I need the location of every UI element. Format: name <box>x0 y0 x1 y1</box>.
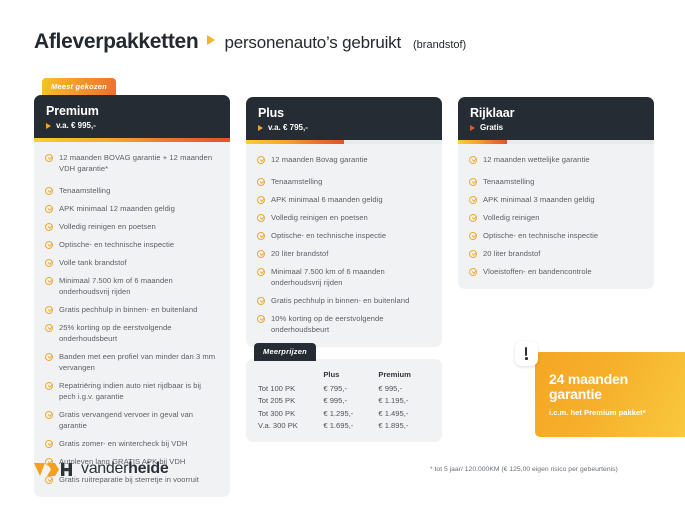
row-label: Tot 205 PK <box>258 395 323 407</box>
list-item: Optische- en technische inspectie <box>469 230 643 241</box>
check-circle-icon <box>257 315 265 323</box>
package-card-premium[interactable]: Meest gekozen Premium v.a. € 995,- 12 ma… <box>34 78 230 497</box>
list-item: Gratis pechhulp in binnen- en buitenland <box>257 295 431 306</box>
check-circle-icon <box>257 232 265 240</box>
card-header-plus: Plus v.a. € 795,- <box>246 97 442 140</box>
list-item: Minimaal 7.500 km of 6 maanden onderhoud… <box>257 266 431 288</box>
column-header-premium: Premium <box>378 368 430 383</box>
table-row: V.a. 300 PK € 1.695,- € 1.895,- <box>258 419 430 431</box>
feature-text: 12 maanden Bovag garantie <box>271 154 368 165</box>
guarantee-title-line1: 24 maanden <box>549 372 673 387</box>
check-circle-icon <box>257 214 265 222</box>
row-label: V.a. 300 PK <box>258 419 323 431</box>
list-item: Volle tank brandstof <box>45 257 219 268</box>
list-item: Gratis vervangend vervoer in geval van g… <box>45 409 219 431</box>
check-circle-icon <box>45 223 53 231</box>
cell-plus: € 795,- <box>323 383 378 395</box>
list-item: Volledig reinigen <box>469 212 643 223</box>
feature-text: Minimaal 7.500 km of 6 maanden onderhoud… <box>271 266 431 288</box>
card-level-bar <box>458 140 654 144</box>
feature-text: APK minimaal 3 maanden geldig <box>483 194 595 205</box>
cell-premium: € 1.195,- <box>378 395 430 407</box>
feature-text: Optische- en technische inspectie <box>271 230 386 241</box>
check-circle-icon <box>45 411 53 419</box>
list-item: APK minimaal 3 maanden geldig <box>469 194 643 205</box>
triangle-right-icon <box>46 123 51 129</box>
card-price: Gratis <box>480 123 503 132</box>
cell-premium: € 1.895,- <box>378 419 430 431</box>
footnote: * tot 5 jaar/ 120.000KM (€ 125,00 eigen … <box>430 466 618 473</box>
feature-text: Gratis pechhulp in binnen- en buitenland <box>271 295 409 306</box>
feature-text: Banden met een profiel van minder dan 3 … <box>59 351 219 373</box>
page-header: Afleverpakketten personenauto’s gebruikt… <box>34 30 466 54</box>
list-item: Volledig reinigen en poetsen <box>257 212 431 223</box>
feature-text: Volle tank brandstof <box>59 257 127 268</box>
list-item: Optische- en technische inspectie <box>45 239 219 250</box>
list-item: 12 maanden Bovag garantie <box>257 154 431 165</box>
surcharge-table-block: Meerprijzen Plus Premium Tot 100 PK € 79… <box>246 343 442 442</box>
check-circle-icon <box>45 324 53 332</box>
most-chosen-badge: Meest gekozen <box>42 78 116 96</box>
brand-name-light: vander <box>81 460 128 477</box>
package-card-rijklaar[interactable]: Rijklaar Gratis 12 maanden wettelijke ga… <box>458 97 654 289</box>
package-card-plus[interactable]: Plus v.a. € 795,- 12 maanden Bovag garan… <box>246 97 442 347</box>
card-price-row: v.a. € 795,- <box>258 123 430 132</box>
list-item: Gratis pechhulp in binnen- en buitenland <box>45 304 219 315</box>
list-item: APK minimaal 12 maanden geldig <box>45 203 219 214</box>
check-circle-icon <box>45 187 53 195</box>
row-label: Tot 100 PK <box>258 383 323 395</box>
card-header-rijklaar: Rijklaar Gratis <box>458 97 654 140</box>
card-title: Premium <box>46 104 218 118</box>
check-circle-icon <box>257 178 265 186</box>
list-item: 12 maanden wettelijke garantie <box>469 154 643 165</box>
triangle-right-icon <box>258 125 263 131</box>
check-circle-icon <box>469 232 477 240</box>
feature-text: Repatriëring indien auto niet rijdbaar i… <box>59 380 219 402</box>
poster-page: Afleverpakketten personenauto’s gebruikt… <box>0 0 685 514</box>
column-header-plus: Plus <box>323 368 378 383</box>
feature-text: 25% korting op de eerstvolgende onderhou… <box>59 322 219 344</box>
feature-text: Gratis zomer- en wintercheck bij VDH <box>59 438 187 449</box>
feature-text: 20 liter brandstof <box>271 248 328 259</box>
card-title: Rijklaar <box>470 106 642 120</box>
feature-text: Tenaamstelling <box>59 185 110 196</box>
feature-text: 10% korting op de eerstvolgende onderhou… <box>271 313 431 335</box>
check-circle-icon <box>257 268 265 276</box>
check-circle-icon <box>469 268 477 276</box>
list-item: Repatriëring indien auto niet rijdbaar i… <box>45 380 219 402</box>
cell-plus: € 1.295,- <box>323 407 378 419</box>
cell-premium: € 1.495,- <box>378 407 430 419</box>
surcharge-tab-label: Meerprijzen <box>254 343 316 361</box>
check-circle-icon <box>469 156 477 164</box>
list-item: 20 liter brandstof <box>257 248 431 259</box>
vdh-logo-icon <box>34 461 72 478</box>
check-circle-icon <box>45 277 53 285</box>
check-circle-icon <box>45 154 53 162</box>
list-item: Minimaal 7.500 km of 6 maanden onderhoud… <box>45 275 219 297</box>
feature-text: Volledig reinigen en poetsen <box>59 221 156 232</box>
card-feature-list: 12 maanden BOVAG garantie + 12 maanden V… <box>34 142 230 497</box>
surcharge-table-body: Plus Premium Tot 100 PK € 795,- € 995,- … <box>246 359 442 442</box>
check-circle-icon <box>45 440 53 448</box>
list-item: Volledig reinigen en poetsen <box>45 221 219 232</box>
card-price-row: v.a. € 995,- <box>46 121 218 130</box>
feature-text: Tenaamstelling <box>271 176 322 187</box>
card-feature-list: 12 maanden Bovag garantie Tenaamstelling… <box>246 144 442 347</box>
table-row: Tot 300 PK € 1.295,- € 1.495,- <box>258 407 430 419</box>
list-item: Tenaamstelling <box>469 176 643 187</box>
card-price: v.a. € 995,- <box>56 121 96 130</box>
guarantee-panel: 24 maanden garantie i.c.m. het Premium p… <box>535 352 685 437</box>
check-circle-icon <box>45 353 53 361</box>
check-circle-icon <box>469 250 477 258</box>
check-circle-icon <box>45 382 53 390</box>
check-circle-icon <box>257 196 265 204</box>
check-circle-icon <box>257 156 265 164</box>
feature-text: Optische- en technische inspectie <box>483 230 598 241</box>
list-item: Optische- en technische inspectie <box>257 230 431 241</box>
table-header-row: Plus Premium <box>258 368 430 383</box>
list-item: 10% korting op de eerstvolgende onderhou… <box>257 313 431 335</box>
check-circle-icon <box>45 306 53 314</box>
triangle-right-icon <box>470 125 475 131</box>
row-label: Tot 300 PK <box>258 407 323 419</box>
guarantee-subtitle: i.c.m. het Premium pakket* <box>549 408 673 417</box>
card-level-bar <box>246 140 442 144</box>
triangle-right-icon <box>207 35 215 45</box>
feature-text: 12 maanden BOVAG garantie + 12 maanden V… <box>59 152 219 174</box>
feature-text: 20 liter brandstof <box>483 248 540 259</box>
list-item: Banden met een profiel van minder dan 3 … <box>45 351 219 373</box>
list-item: Tenaamstelling <box>45 185 219 196</box>
feature-text: Gratis vervangend vervoer in geval van g… <box>59 409 219 431</box>
list-item: 20 liter brandstof <box>469 248 643 259</box>
exclamation-icon <box>515 341 538 366</box>
feature-text: 12 maanden wettelijke garantie <box>483 154 590 165</box>
cell-plus: € 995,- <box>323 395 378 407</box>
check-circle-icon <box>257 297 265 305</box>
card-title: Plus <box>258 106 430 120</box>
check-circle-icon <box>469 196 477 204</box>
card-price-row: Gratis <box>470 123 642 132</box>
list-item: Vloeistoffen- en bandencontrole <box>469 266 643 277</box>
guarantee-title-line2: garantie <box>549 387 673 402</box>
feature-text: Tenaamstelling <box>483 176 534 187</box>
check-circle-icon <box>257 250 265 258</box>
brand-name-bold: heide <box>128 460 168 477</box>
card-header-premium: Premium v.a. € 995,- <box>34 95 230 138</box>
check-circle-icon <box>45 259 53 267</box>
check-circle-icon <box>45 241 53 249</box>
page-subtitle-note: (brandstof) <box>413 39 466 51</box>
column-header-power <box>258 368 323 383</box>
brand-logo: vanderheide <box>34 460 168 478</box>
feature-text: Gratis pechhulp in binnen- en buitenland <box>59 304 197 315</box>
page-subtitle: personenauto’s gebruikt <box>224 33 401 53</box>
brand-name: vanderheide <box>81 460 168 478</box>
cell-premium: € 995,- <box>378 383 430 395</box>
check-circle-icon <box>45 205 53 213</box>
feature-text: APK minimaal 6 maanden geldig <box>271 194 383 205</box>
feature-text: Vloeistoffen- en bandencontrole <box>483 266 592 277</box>
list-item: 25% korting op de eerstvolgende onderhou… <box>45 322 219 344</box>
feature-text: Optische- en technische inspectie <box>59 239 174 250</box>
table-row: Tot 100 PK € 795,- € 995,- <box>258 383 430 395</box>
feature-text: Volledig reinigen en poetsen <box>271 212 368 223</box>
check-circle-icon <box>469 214 477 222</box>
card-level-bar <box>34 138 230 142</box>
surcharge-table: Plus Premium Tot 100 PK € 795,- € 995,- … <box>258 368 430 431</box>
feature-text: Minimaal 7.500 km of 6 maanden onderhoud… <box>59 275 219 297</box>
page-title: Afleverpakketten <box>34 30 198 54</box>
cell-plus: € 1.695,- <box>323 419 378 431</box>
list-item: APK minimaal 6 maanden geldig <box>257 194 431 205</box>
feature-text: Volledig reinigen <box>483 212 540 223</box>
card-price: v.a. € 795,- <box>268 123 308 132</box>
list-item: 12 maanden BOVAG garantie + 12 maanden V… <box>45 152 219 174</box>
table-row: Tot 205 PK € 995,- € 1.195,- <box>258 395 430 407</box>
check-circle-icon <box>469 178 477 186</box>
list-item: Tenaamstelling <box>257 176 431 187</box>
list-item: Gratis zomer- en wintercheck bij VDH <box>45 438 219 449</box>
card-feature-list: 12 maanden wettelijke garantie Tenaamste… <box>458 144 654 289</box>
feature-text: APK minimaal 12 maanden geldig <box>59 203 175 214</box>
